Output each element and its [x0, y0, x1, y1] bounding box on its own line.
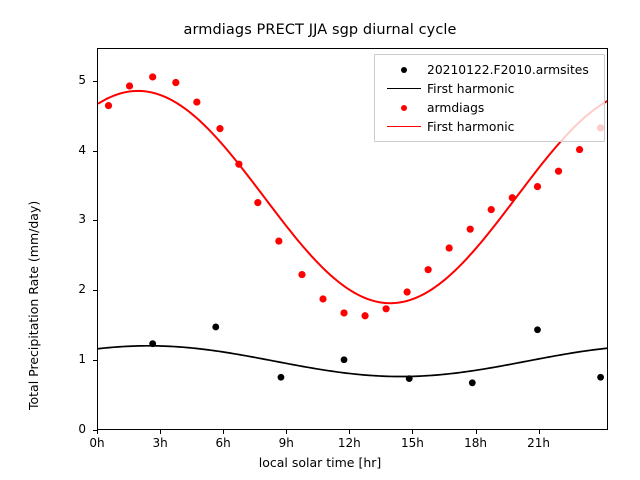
- y-tick: [93, 430, 97, 431]
- legend[interactable]: 20210122.F2010.armsitesFirst harmonicarm…: [374, 54, 605, 142]
- data-point: [149, 73, 156, 80]
- y-tick-label: 0: [60, 422, 86, 436]
- x-tick-label: 15h: [392, 436, 432, 450]
- y-tick-label: 4: [60, 143, 86, 157]
- y-tick: [93, 81, 97, 82]
- legend-marker-dot-icon: [381, 67, 427, 73]
- figure: armdiags PRECT JJA sgp diurnal cycle 0h3…: [0, 0, 640, 480]
- data-point: [555, 168, 562, 175]
- x-tick: [476, 430, 477, 434]
- x-tick-label: 0h: [77, 436, 117, 450]
- data-point: [254, 199, 261, 206]
- data-point: [298, 271, 305, 278]
- data-point: [341, 356, 348, 363]
- legend-label: armdiags: [427, 101, 484, 115]
- y-tick-label: 3: [60, 212, 86, 226]
- x-axis-label: local solar time [hr]: [0, 455, 640, 470]
- legend-label: First harmonic: [427, 82, 514, 96]
- y-tick: [93, 290, 97, 291]
- data-point: [597, 374, 604, 381]
- series-black-points: [149, 324, 604, 387]
- data-point: [425, 266, 432, 273]
- data-point: [404, 288, 411, 295]
- legend-item[interactable]: armdiags: [381, 98, 598, 117]
- x-tick-label: 9h: [266, 436, 306, 450]
- data-point: [534, 183, 541, 190]
- y-tick-label: 5: [60, 73, 86, 87]
- data-point: [509, 194, 516, 201]
- x-tick: [286, 430, 287, 434]
- data-point: [340, 309, 347, 316]
- legend-item[interactable]: First harmonic: [381, 117, 598, 136]
- data-point: [488, 206, 495, 213]
- legend-marker-dot-icon: [381, 105, 427, 111]
- x-tick-label: 21h: [519, 436, 559, 450]
- x-tick: [160, 430, 161, 434]
- data-point: [361, 312, 368, 319]
- y-tick: [93, 151, 97, 152]
- x-tick-label: 3h: [140, 436, 180, 450]
- x-tick: [539, 430, 540, 434]
- data-point: [467, 226, 474, 233]
- data-point: [193, 98, 200, 105]
- chart-title: armdiags PRECT JJA sgp diurnal cycle: [0, 22, 640, 38]
- y-axis-label: Total Precipitation Rate (mm/day): [26, 201, 41, 410]
- x-tick: [97, 430, 98, 434]
- data-point: [576, 146, 583, 153]
- data-point: [172, 79, 179, 86]
- legend-item[interactable]: 20210122.F2010.armsites: [381, 60, 598, 79]
- x-tick: [349, 430, 350, 434]
- data-point: [319, 295, 326, 302]
- data-point: [406, 375, 413, 382]
- x-tick: [223, 430, 224, 434]
- x-tick-label: 6h: [203, 436, 243, 450]
- data-point: [446, 244, 453, 251]
- legend-marker-line-icon: [381, 88, 427, 90]
- data-point: [235, 161, 242, 168]
- y-tick: [93, 360, 97, 361]
- x-tick-label: 18h: [456, 436, 496, 450]
- data-point: [534, 326, 541, 333]
- legend-label: 20210122.F2010.armsites: [427, 63, 589, 77]
- legend-label: First harmonic: [427, 120, 514, 134]
- data-point: [212, 324, 219, 331]
- y-tick-label: 1: [60, 352, 86, 366]
- x-tick-label: 12h: [329, 436, 369, 450]
- y-tick: [93, 220, 97, 221]
- data-point: [149, 340, 156, 347]
- data-point: [126, 82, 133, 89]
- legend-marker-line-icon: [381, 126, 427, 128]
- data-point: [275, 237, 282, 244]
- y-tick-label: 2: [60, 282, 86, 296]
- series-black-harmonic-line: [98, 346, 608, 377]
- x-tick: [412, 430, 413, 434]
- harmonic-curve: [98, 346, 608, 377]
- data-point: [469, 379, 476, 386]
- data-point: [278, 374, 285, 381]
- data-point: [382, 305, 389, 312]
- data-point: [105, 102, 112, 109]
- legend-item[interactable]: First harmonic: [381, 79, 598, 98]
- data-point: [216, 125, 223, 132]
